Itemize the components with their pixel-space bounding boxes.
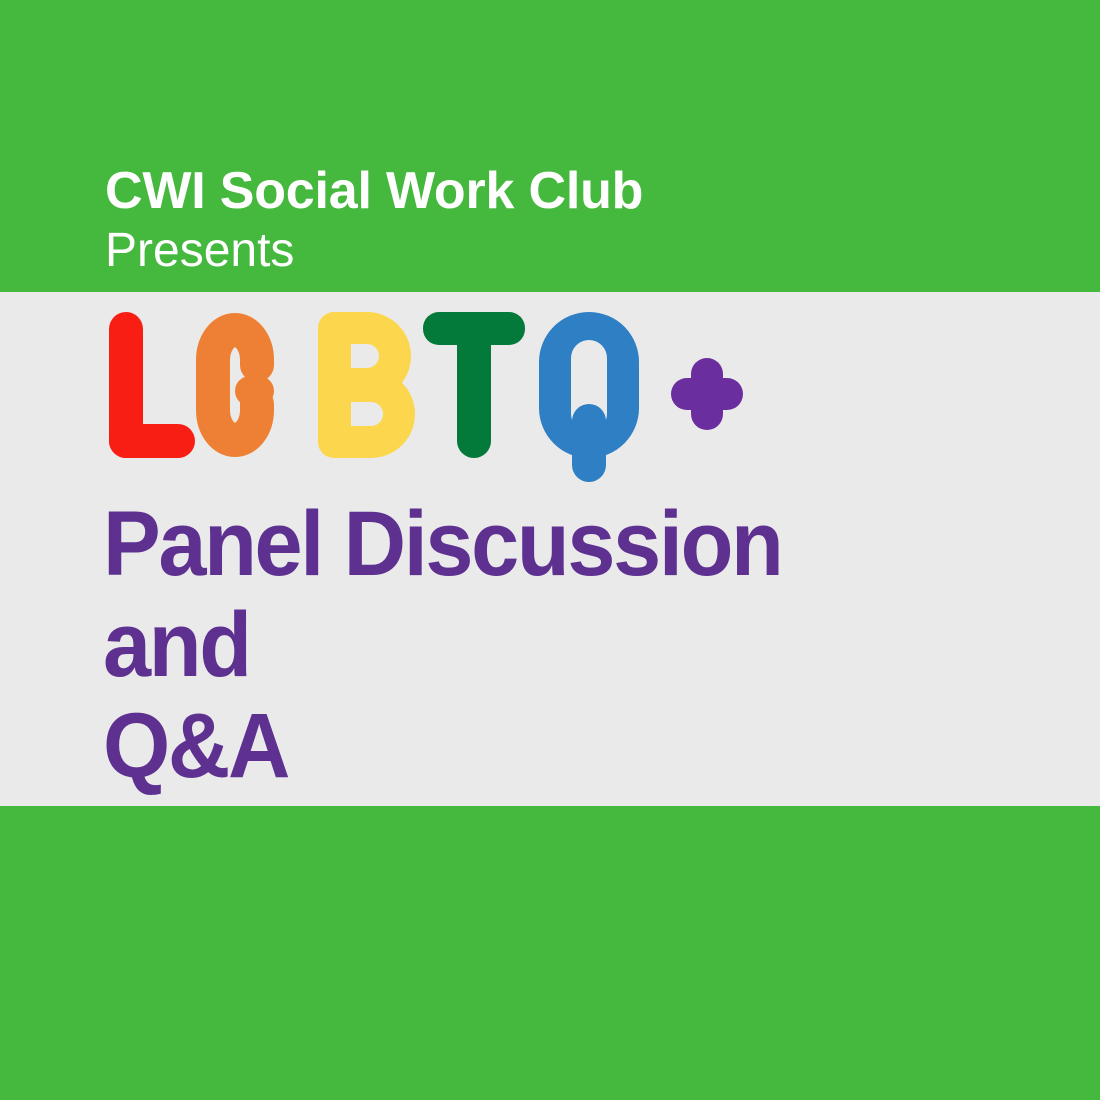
letter-b-glyph bbox=[318, 312, 399, 458]
headline-line-1: Panel Discussion bbox=[103, 494, 996, 595]
club-heading-block: CWI Social Work Club Presents bbox=[105, 160, 1005, 280]
club-name-text: CWI Social Work Club bbox=[105, 160, 1005, 222]
letter-l-glyph bbox=[109, 312, 195, 458]
headline-line-2: and bbox=[103, 595, 996, 696]
letter-t-glyph bbox=[423, 312, 525, 458]
presents-text: Presents bbox=[105, 222, 1005, 280]
letter-q-glyph bbox=[539, 312, 639, 482]
bottom-green-band bbox=[0, 806, 1100, 1100]
letter-g-glyph bbox=[213, 330, 274, 440]
headline-block: Panel Discussion and Q&A bbox=[103, 494, 1053, 797]
lgbtq-wordmark bbox=[105, 308, 745, 488]
letter-plus-glyph bbox=[671, 358, 743, 430]
headline-line-3: Q&A bbox=[103, 696, 996, 797]
poster-canvas: CWI Social Work Club Presents bbox=[0, 0, 1100, 1100]
